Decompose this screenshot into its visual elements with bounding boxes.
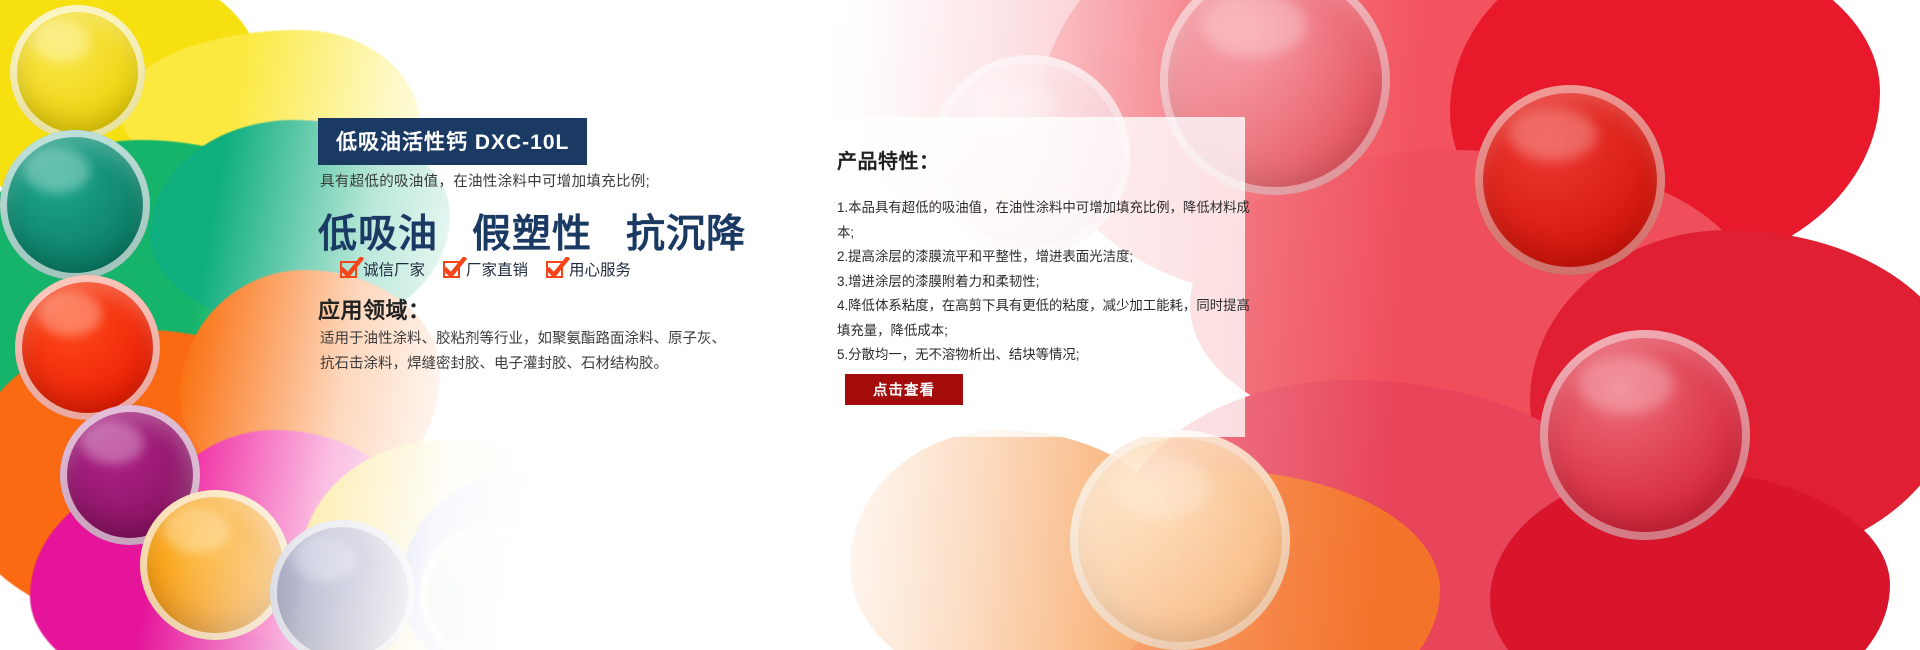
checkbox-check-icon [443,261,460,278]
features-list: 1.本品具有超低的吸油值，在油性涂料中可增加填充比例，降低材料成本; 2.提高涂… [837,196,1219,368]
paint-pot-green [0,130,150,280]
product-info-column: 低吸油活性钙 DXC-10L 具有超低的吸油值，在油性涂料中可增加填充比例; 低… [318,0,838,650]
paint-pot-yellow [10,5,145,140]
paint-pot-bright-red [1475,85,1665,275]
trust-badge-row: 诚信厂家 厂家直销 用心服务 [340,258,631,280]
product-title-badge: 低吸油活性钙 DXC-10L [318,118,587,165]
trust-badge-attentive-service: 用心服务 [546,258,631,280]
checkbox-check-icon [546,261,563,278]
headline-word-1: 低吸油 [318,203,438,259]
application-heading: 应用领域： [318,293,431,325]
feature-item: 4.降低体系粘度，在高剪下具有更低的粘度，减少加工能耗，同时提高填充量，降低成本… [837,294,1257,343]
application-body-text: 适用于油性涂料、胶粘剂等行业，如聚氨酯路面涂料、原子灰、抗石击涂料，焊缝密封胶、… [320,327,740,377]
feature-item: 2.提高涂层的漆膜流平和平整性，增进表面光洁度; [837,245,1257,270]
paint-pot-red [15,275,160,420]
trust-badge-honest-manufacturer: 诚信厂家 [340,258,425,280]
product-subtitle: 具有超低的吸油值，在油性涂料中可增加填充比例; [320,170,650,191]
paint-pot-amber [140,490,290,640]
trust-badge-label: 诚信厂家 [363,258,425,280]
headline-word-3: 抗沉降 [626,203,746,259]
headline-word-2: 假塑性 [472,203,592,259]
trust-badge-factory-direct: 厂家直销 [443,258,528,280]
feature-item: 3.增进涂层的漆膜附着力和柔韧性; [837,270,1257,295]
features-panel-heading: 产品特性： [837,145,1219,174]
paint-pot-rose [1540,330,1750,540]
trust-badge-label: 用心服务 [569,258,631,280]
product-headline: 低吸油 假塑性 抗沉降 [318,203,746,259]
trust-badge-label: 厂家直销 [466,258,528,280]
feature-item: 1.本品具有超低的吸油值，在油性涂料中可增加填充比例，降低材料成本; [837,196,1257,245]
checkbox-check-icon [340,261,357,278]
product-banner: 低吸油活性钙 DXC-10L 具有超低的吸油值，在油性涂料中可增加填充比例; 低… [0,0,1920,650]
paint-pot-peach [1070,430,1290,650]
view-details-button[interactable]: 点击查看 [845,374,963,405]
feature-item: 5.分散均一，无不溶物析出、结块等情况; [837,343,1257,368]
